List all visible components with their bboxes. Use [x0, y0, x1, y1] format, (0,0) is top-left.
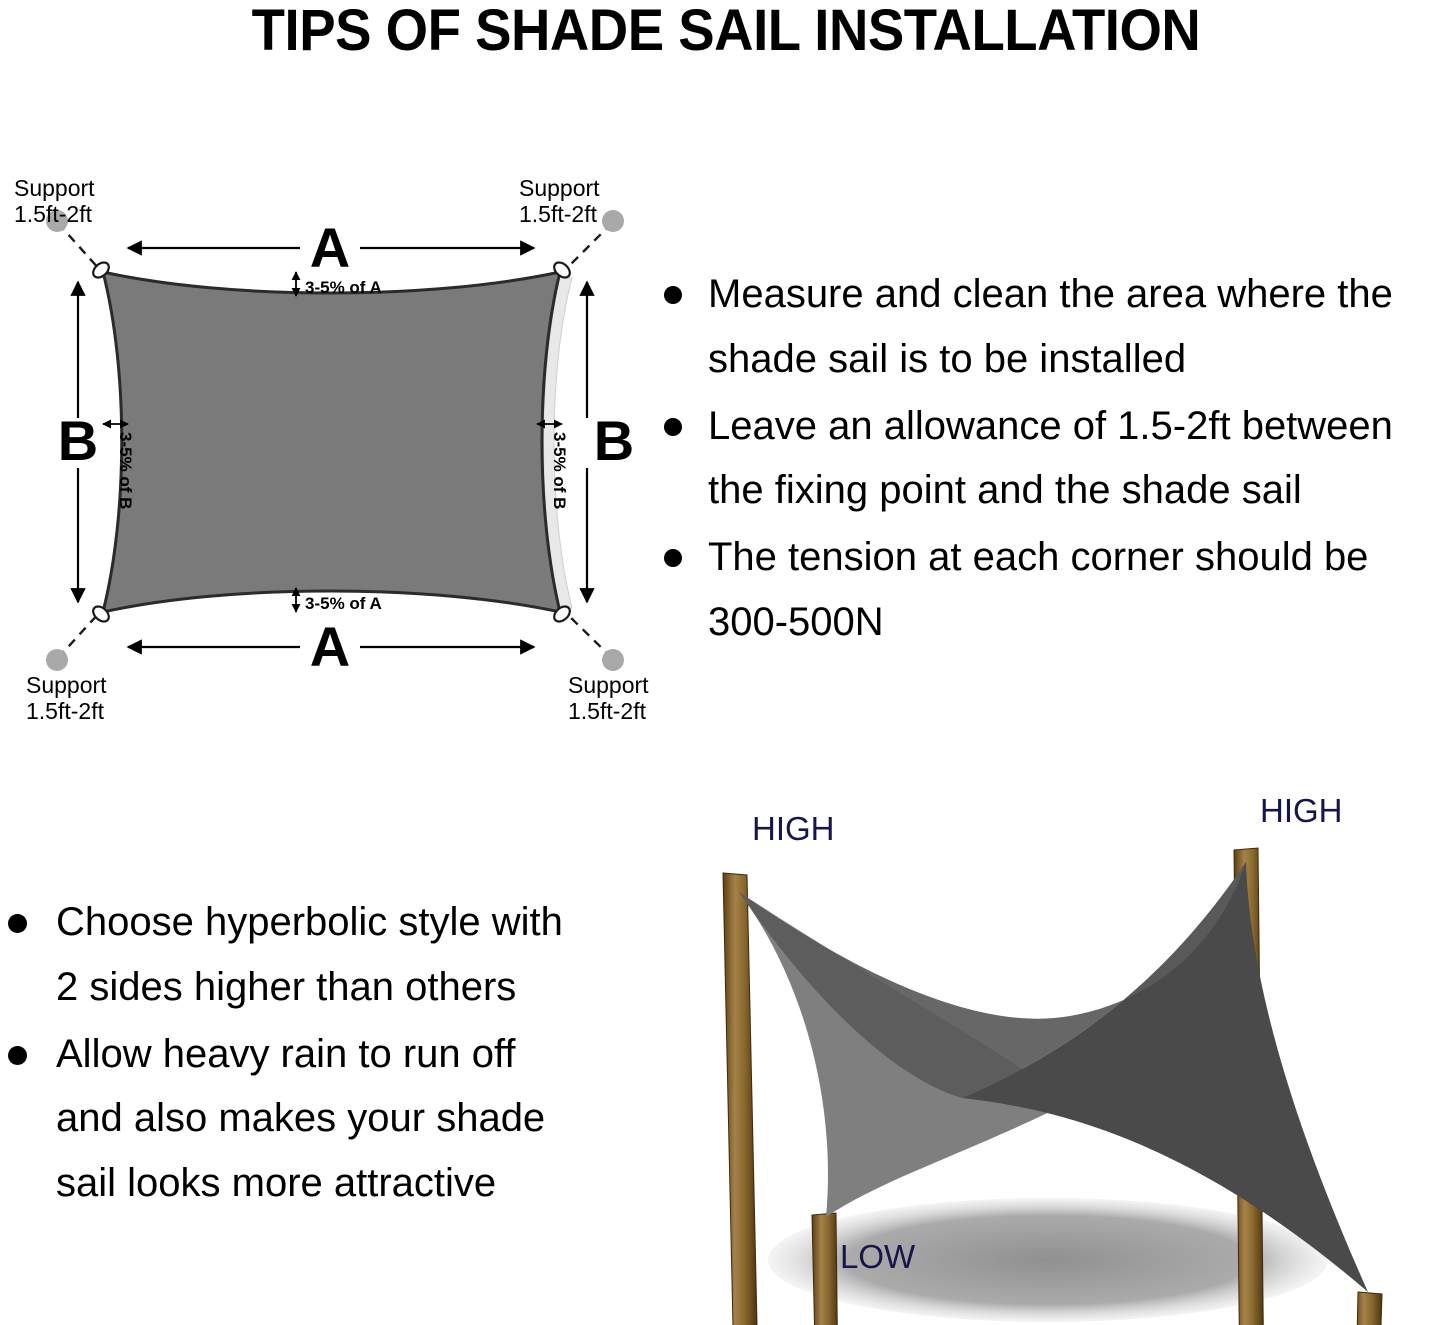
installation-tips-list: Measure and clean the area where the sha… [648, 262, 1452, 682]
list-item: Allow heavy rain to run off and also mak… [0, 1022, 640, 1216]
support-label-line1: Support [519, 175, 600, 201]
bullet-dot-icon [8, 914, 27, 933]
label-low-left: LOW [840, 1238, 916, 1275]
tip-line: shade sail is to be installed [708, 327, 1452, 392]
tip-line: sail looks more attractive [56, 1151, 640, 1216]
support-label-bottom-left: Support 1.5ft-2ft [26, 672, 107, 724]
support-label-top-left: Support 1.5ft-2ft [14, 175, 95, 227]
sag-label-bottom: 3-5% of A [305, 594, 382, 613]
support-label-line2: 1.5ft-2ft [26, 698, 105, 724]
dimension-label-top-A: A [310, 216, 350, 279]
support-label-line1: Support [26, 672, 107, 698]
support-label-line1: Support [568, 672, 649, 698]
support-label-top-right: Support 1.5ft-2ft [519, 175, 600, 227]
sag-label-top: 3-5% of A [305, 278, 382, 297]
hyperbolic-tips-list: Choose hyperbolic style with 2 sides hig… [0, 890, 640, 1240]
hyperbolic-sail-diagram: HIGH HIGH LOW LOW [640, 780, 1452, 1325]
tip-line: 2 sides higher than others [56, 955, 640, 1020]
tip-line: the fixing point and the shade sail [708, 458, 1452, 523]
bullet-dot-icon [664, 418, 682, 436]
hyperbolic-bullet-list: Choose hyperbolic style with 2 sides hig… [0, 890, 640, 1216]
dimension-label-bottom-A: A [310, 615, 350, 678]
list-item: Leave an allowance of 1.5-2ft between th… [648, 394, 1452, 524]
tip-line: Choose hyperbolic style with [56, 890, 640, 955]
label-high-right: HIGH [1260, 792, 1343, 829]
list-item: Measure and clean the area where the sha… [648, 262, 1452, 392]
support-label-line2: 1.5ft-2ft [568, 698, 647, 724]
pole-low-left [812, 1213, 838, 1325]
bullet-dot-icon [664, 549, 682, 567]
support-label-line2: 1.5ft-2ft [14, 201, 93, 227]
shade-sail-shape [103, 272, 560, 612]
label-low-right: LOW [1288, 1320, 1364, 1325]
page-title: TIPS OF SHADE SAIL INSTALLATION [44, 0, 1409, 62]
bullet-dot-icon [8, 1046, 27, 1065]
list-item: Choose hyperbolic style with 2 sides hig… [0, 890, 640, 1020]
sag-label-right: 3-5% of B [550, 432, 569, 509]
bullet-dot-icon [664, 286, 682, 304]
list-item: The tension at each corner should be 300… [648, 525, 1452, 655]
tip-line: and also makes your shade [56, 1086, 640, 1151]
tip-line: Leave an allowance of 1.5-2ft between [708, 394, 1452, 459]
dimension-label-left-B: B [58, 409, 98, 472]
support-label-bottom-right: Support 1.5ft-2ft [568, 672, 649, 724]
dimension-label-right-B: B [594, 409, 634, 472]
tips-bullet-list: Measure and clean the area where the sha… [648, 262, 1452, 655]
rect-sail-diagram: A A B B 3-5% of A 3-5% of A [0, 160, 660, 740]
pole-high-left [723, 873, 757, 1325]
label-high-left: HIGH [752, 810, 835, 847]
tip-line: 300-500N [708, 590, 1452, 655]
sag-label-left: 3-5% of B [116, 432, 135, 509]
tip-line: The tension at each corner should be [708, 525, 1452, 590]
support-label-line2: 1.5ft-2ft [519, 201, 598, 227]
tip-line: Measure and clean the area where the [708, 262, 1452, 327]
support-label-line1: Support [14, 175, 95, 201]
tip-line: Allow heavy rain to run off [56, 1022, 640, 1087]
